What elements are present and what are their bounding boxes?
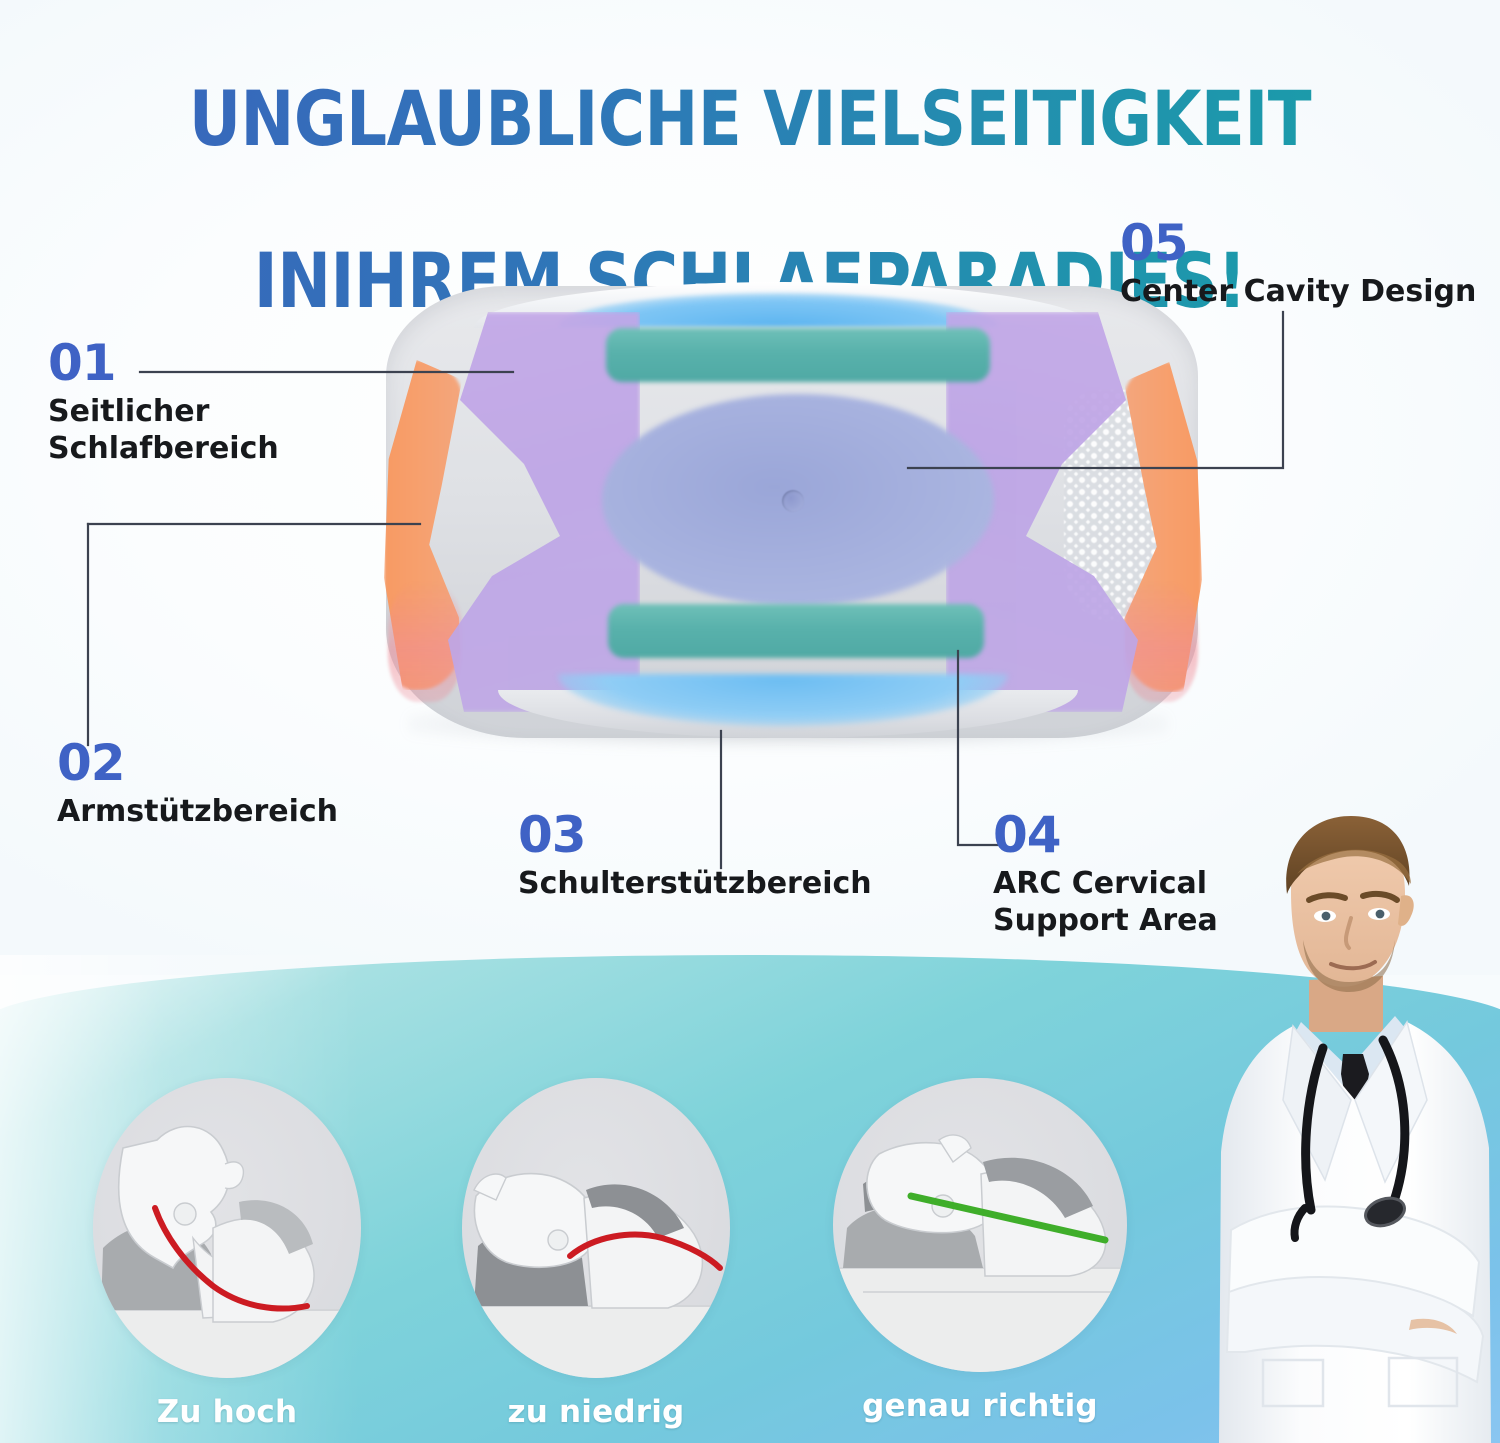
arc-cervical-bar — [608, 604, 984, 658]
callout-04: 04 ARC Cervical Support Area — [993, 810, 1218, 939]
sleep-posture-diagram-correct — [833, 1078, 1127, 1372]
comparison-card-too-low: zu niedrig — [462, 1078, 730, 1430]
comparison-card-correct: genau richtig — [833, 1078, 1127, 1424]
callout-02-label: Armstützbereich — [57, 794, 338, 831]
comparison-caption-too-low: zu niedrig — [462, 1394, 730, 1430]
ear-shape — [174, 1203, 196, 1225]
callout-05: 05 Center Cavity Design — [1120, 218, 1476, 311]
head-face-profile — [867, 1143, 999, 1233]
callout-04-number: 04 — [993, 810, 1218, 860]
callout-05-number: 05 — [1120, 218, 1476, 268]
callout-03: 03 Schulterstützbereich — [518, 810, 872, 903]
chin-shape — [225, 1162, 243, 1189]
sleep-posture-diagram-too-low — [462, 1078, 730, 1378]
callout-03-label: Schulterstützbereich — [518, 866, 872, 903]
pillow-illustration — [378, 282, 1208, 762]
comparison-card-too-high: Zu hoch — [93, 1078, 361, 1430]
callout-01-number: 01 — [48, 338, 279, 388]
center-cavity-dimple — [782, 490, 804, 512]
sleep-posture-diagram-too-high — [93, 1078, 361, 1378]
pupil-left — [1322, 912, 1331, 921]
callout-01-label: Seitlicher Schlafbereich — [48, 394, 279, 467]
ear-shape — [548, 1230, 568, 1250]
comparison-illustration-too-low — [462, 1078, 730, 1378]
callout-02: 02 Armstützbereich — [57, 738, 338, 831]
doctor-photo — [1205, 800, 1500, 1443]
mattress-too-low — [462, 1306, 730, 1378]
callout-01: 01 Seitlicher Schlafbereich — [48, 338, 279, 467]
callout-04-label: ARC Cervical Support Area — [993, 866, 1218, 939]
comparison-caption-too-high: Zu hoch — [93, 1394, 361, 1430]
callout-03-number: 03 — [518, 810, 872, 860]
headline-line-1: UNGLAUBLICHE VIELSEITIGKEIT — [45, 75, 1455, 158]
shoulder-support-bar — [606, 328, 990, 382]
doctor-figure — [1205, 800, 1500, 1443]
mattress-correct — [833, 1268, 1127, 1372]
comparison-illustration-too-high — [93, 1078, 361, 1378]
comparison-caption-correct: genau richtig — [833, 1388, 1127, 1424]
comparison-illustration-correct — [833, 1078, 1127, 1372]
pupil-right — [1376, 910, 1385, 919]
callout-05-label: Center Cavity Design — [1120, 274, 1476, 311]
callout-02-number: 02 — [57, 738, 338, 788]
